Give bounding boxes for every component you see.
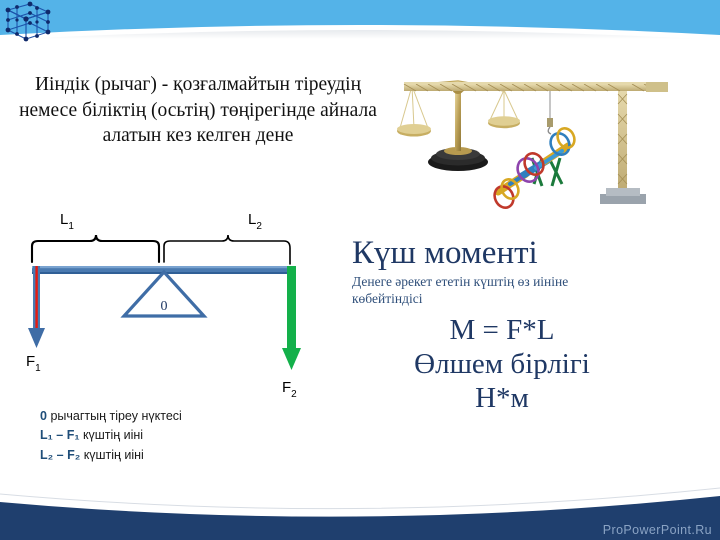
arm2-brace bbox=[164, 235, 290, 264]
legend-text-arm2: күштің иіні bbox=[84, 448, 144, 462]
force2-arrow bbox=[282, 266, 301, 370]
legend-key-arm2: L₂ – F₂ bbox=[40, 448, 80, 462]
arm1-label: L1 bbox=[60, 211, 74, 232]
legend-key-arm1: L₁ – F₁ bbox=[40, 428, 80, 442]
lever-examples-illustration bbox=[392, 58, 710, 216]
crystal-lattice-logo-icon bbox=[2, 0, 54, 46]
fulcrum-label: 0 bbox=[161, 299, 168, 314]
force1-arrow bbox=[28, 266, 45, 348]
legend-line-arm2: L₂ – F₂ күштің иіні bbox=[40, 446, 340, 465]
footer-watermark: ProPowerPoint.Ru bbox=[603, 523, 712, 537]
unit-value: Н*м bbox=[352, 382, 652, 415]
lever-force-diagram: L1 L2 0 bbox=[16, 200, 346, 400]
moment-formula: M = F*L bbox=[352, 314, 652, 347]
arm2-label: L2 bbox=[248, 211, 262, 232]
header-decoration bbox=[0, 0, 720, 62]
panel-subtitle: Денеге әрекет ететін күштің өз иініне кө… bbox=[352, 273, 604, 308]
moment-of-force-panel: Күш моменті Денеге әрекет ететін күштің … bbox=[352, 236, 712, 415]
unit-label: Өлшем бірлігі bbox=[352, 348, 652, 381]
balance-scale-graphic bbox=[397, 82, 520, 171]
legend-key-fulcrum: 0 bbox=[40, 409, 47, 423]
legend-text-arm1: күштің иіні bbox=[83, 428, 143, 442]
force2-label: F2 bbox=[282, 379, 297, 400]
panel-heading: Күш моменті bbox=[352, 236, 712, 271]
tower-crane-graphic bbox=[404, 82, 668, 204]
diagram-legend: 0 рычагтың тіреу нүктесі L₁ – F₁ күштің … bbox=[40, 407, 340, 465]
legend-line-fulcrum: 0 рычагтың тіреу нүктесі bbox=[40, 407, 340, 426]
legend-text-fulcrum: рычагтың тіреу нүктесі bbox=[50, 409, 181, 423]
slide-title: Иіндік (рычаг) - қозғалмайтын тіреудің н… bbox=[14, 72, 382, 149]
slide-canvas: Иіндік (рычаг) - қозғалмайтын тіреудің н… bbox=[0, 0, 720, 540]
force1-label: F1 bbox=[26, 353, 41, 374]
arm1-brace bbox=[32, 235, 159, 262]
legend-line-arm1: L₁ – F₁ күштің иіні bbox=[40, 426, 340, 445]
seesaw-graphic bbox=[491, 126, 577, 211]
